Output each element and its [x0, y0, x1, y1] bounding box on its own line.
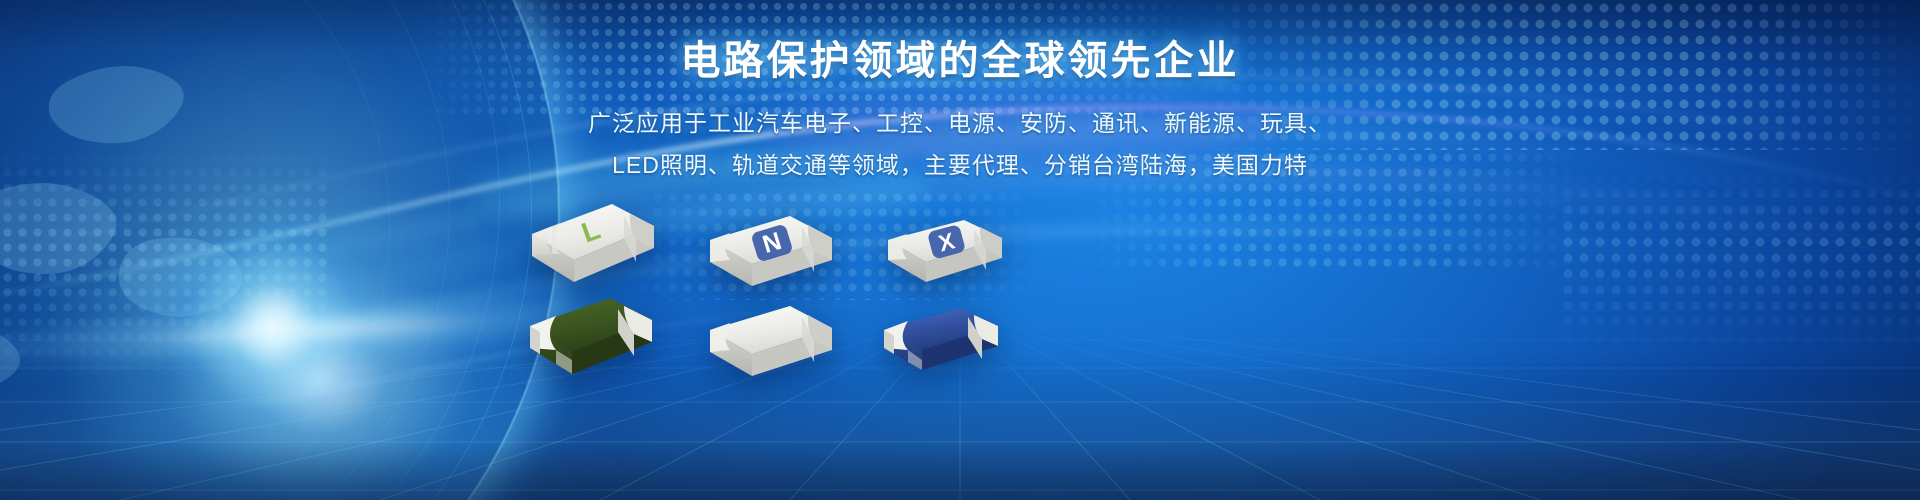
subtitle-line-1: 广泛应用于工业汽车电子、工控、电源、安防、通讯、新能源、玩具、 — [0, 102, 1920, 144]
product-chip-plain — [700, 288, 840, 398]
subtitle-line-2: LED照明、轨道交通等领域，主要代理、分销台湾陆海，美国力特 — [0, 144, 1920, 186]
page-title: 电路保护领域的全球领先企业 — [0, 38, 1920, 84]
smd-fuse-icon — [700, 288, 840, 398]
smd-fuse-icon — [518, 282, 658, 392]
product-chip-green — [518, 282, 658, 392]
banner-subtitle: 广泛应用于工业汽车电子、工控、电源、安防、通讯、新能源、玩具、 LED照明、轨道… — [0, 102, 1920, 186]
banner-text-block: 电路保护领域的全球领先企业 广泛应用于工业汽车电子、工控、电源、安防、通讯、新能… — [0, 38, 1920, 186]
product-chip-blue — [876, 292, 1006, 397]
hero-banner: 电路保护领域的全球领先企业 广泛应用于工业汽车电子、工控、电源、安防、通讯、新能… — [0, 0, 1920, 500]
smd-fuse-icon — [876, 292, 1006, 397]
